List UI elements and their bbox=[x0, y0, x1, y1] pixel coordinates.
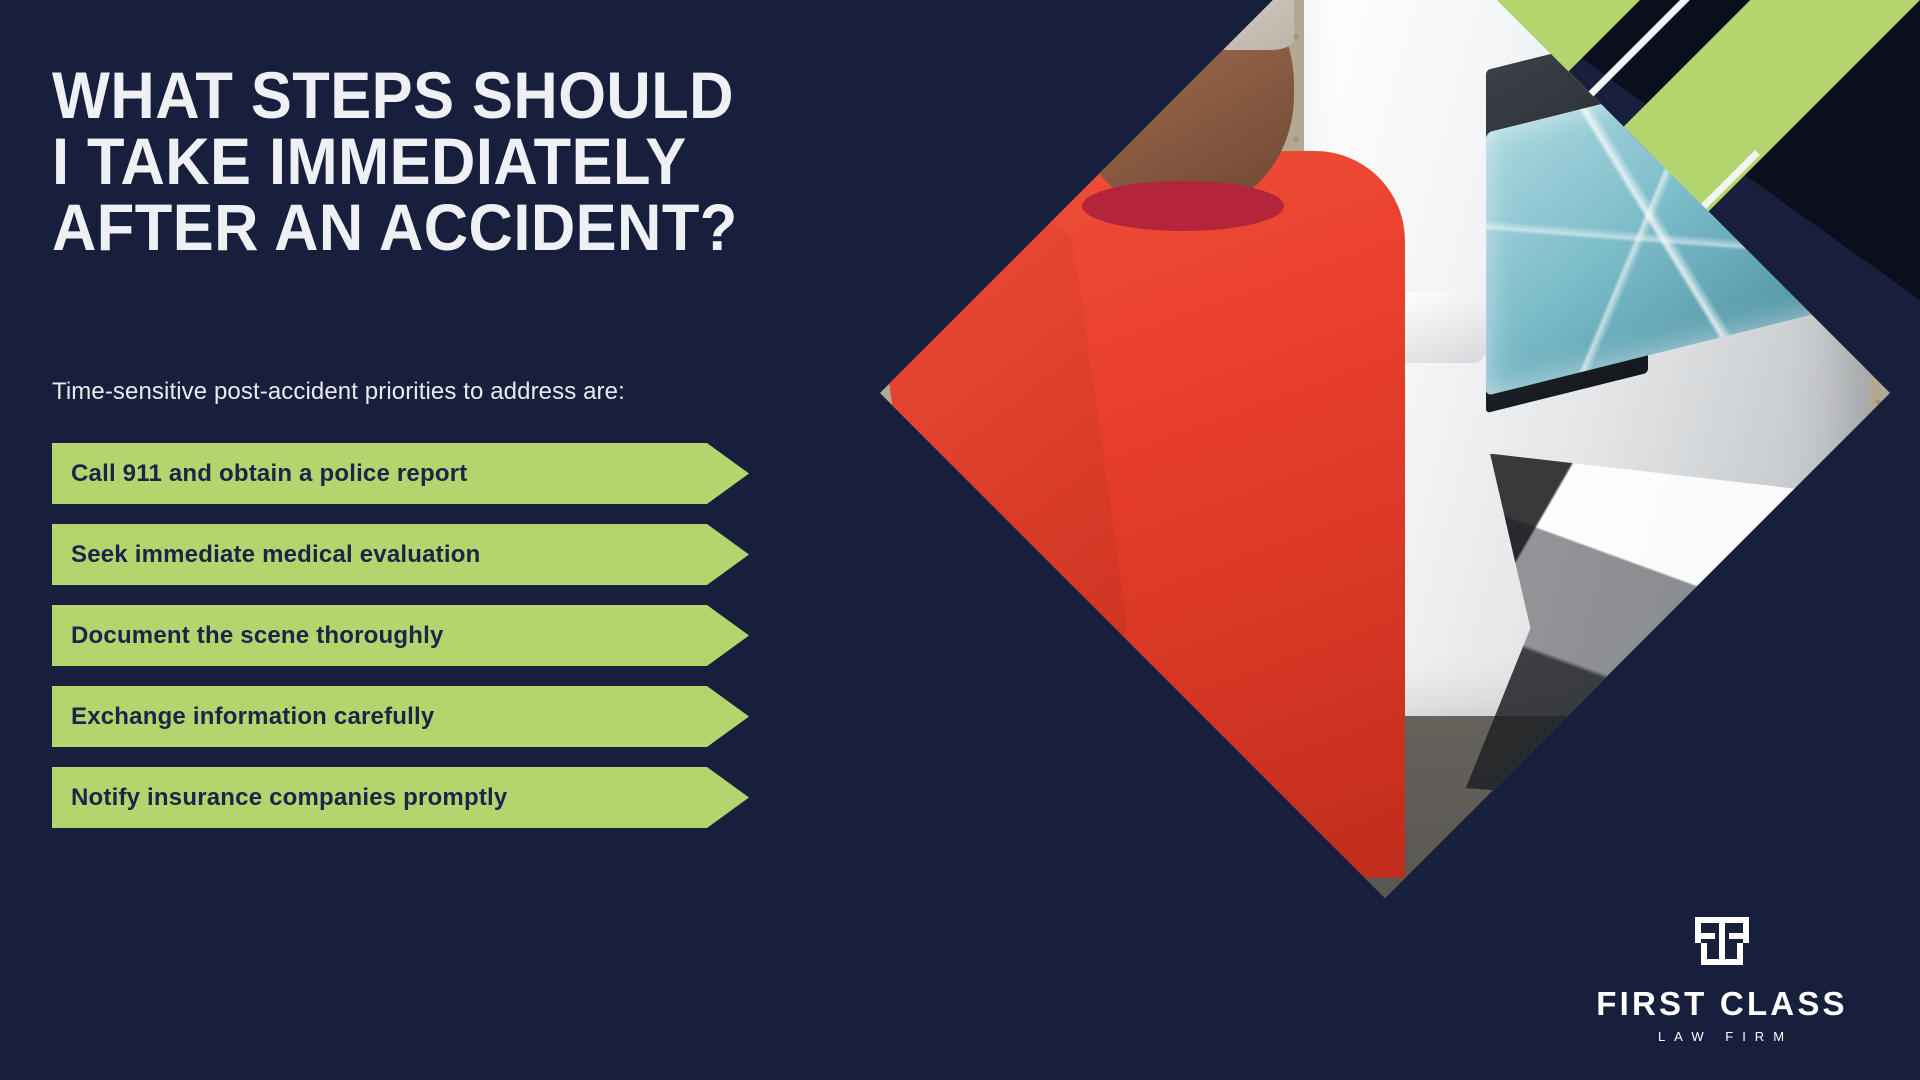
subtitle: Time-sensitive post-accident priorities … bbox=[52, 378, 812, 406]
photo-side-mirror bbox=[1395, 292, 1486, 363]
photo-man-hand bbox=[1009, 20, 1135, 169]
logo-tagline: LAW FIRM bbox=[1562, 1029, 1882, 1044]
brand-logo[interactable]: FIRST CLASS LAW FIRM bbox=[1562, 913, 1882, 1044]
step-label: Notify insurance companies promptly bbox=[52, 784, 507, 812]
step-item-5[interactable]: Notify insurance companies promptly bbox=[52, 767, 749, 828]
step-item-2[interactable]: Seek immediate medical evaluation bbox=[52, 524, 749, 585]
step-label: Exchange information carefully bbox=[52, 703, 434, 731]
step-item-4[interactable]: Exchange information carefully bbox=[52, 686, 749, 747]
content-column: WHAT STEPS SHOULD I TAKE IMMEDIATELY AFT… bbox=[52, 0, 852, 1080]
accident-photo-diamond bbox=[880, 0, 1890, 898]
fc-monogram-icon bbox=[1687, 913, 1757, 977]
step-label: Call 911 and obtain a police report bbox=[52, 460, 467, 488]
accident-photo bbox=[880, 0, 1890, 898]
step-label: Document the scene thoroughly bbox=[52, 622, 444, 650]
step-label: Seek immediate medical evaluation bbox=[52, 541, 480, 569]
steps-list: Call 911 and obtain a police report Seek… bbox=[52, 443, 812, 848]
step-item-1[interactable]: Call 911 and obtain a police report bbox=[52, 443, 749, 504]
photo-man-hair bbox=[1072, 0, 1294, 50]
infographic-canvas: WHAT STEPS SHOULD I TAKE IMMEDIATELY AFT… bbox=[0, 0, 1920, 1080]
photo-mobile-phone bbox=[1082, 16, 1143, 114]
page-title: WHAT STEPS SHOULD I TAKE IMMEDIATELY AFT… bbox=[52, 62, 768, 260]
step-item-3[interactable]: Document the scene thoroughly bbox=[52, 605, 749, 666]
logo-name: FIRST CLASS bbox=[1562, 987, 1882, 1020]
photo-man-collar bbox=[1082, 181, 1284, 232]
